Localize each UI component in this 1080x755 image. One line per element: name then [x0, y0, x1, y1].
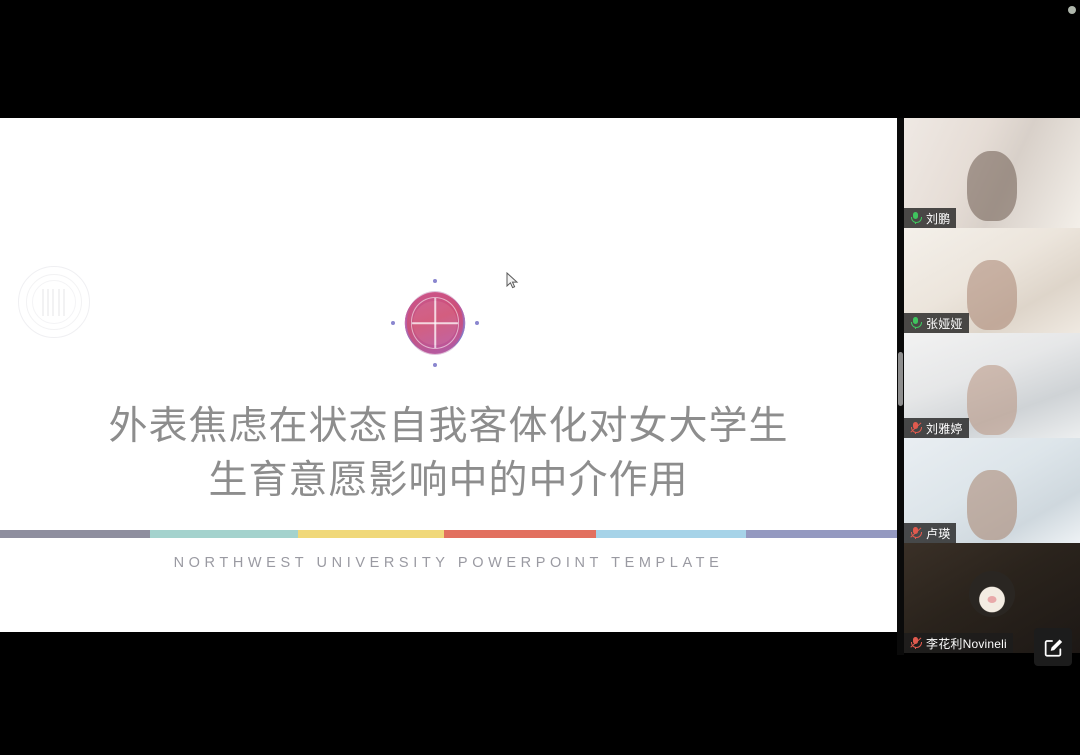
participant-name: 刘雅婷 — [926, 420, 963, 437]
northwest-university-logo-icon — [392, 280, 478, 366]
microphone-muted-icon — [910, 527, 921, 540]
divider-color-bar — [0, 530, 897, 538]
annotate-button[interactable] — [1034, 628, 1072, 666]
segment-blue — [596, 530, 746, 538]
participant-name-bar: 卢瑛 — [904, 523, 956, 543]
participant-name-bar: 刘鹏 — [904, 208, 956, 228]
participant-tile[interactable]: 刘鹏 — [904, 118, 1080, 228]
microphone-on-icon — [910, 317, 921, 330]
screen-root: 外表焦虑在状态自我客体化对女大学生 生育意愿影响中的中介作用 NORTHWEST… — [0, 0, 1080, 755]
segment-gray — [0, 530, 150, 538]
camera-led-dot — [1068, 6, 1076, 14]
mouse-cursor-icon — [506, 272, 520, 290]
participant-video-panel[interactable]: 刘鹏张娅娅刘雅婷卢瑛李花利Novineli — [904, 118, 1080, 655]
microphone-muted-icon — [910, 637, 921, 650]
participant-name: 李花利Novineli — [926, 635, 1007, 652]
segment-red — [444, 530, 596, 538]
slide-subtitle: NORTHWEST UNIVERSITY POWERPOINT TEMPLATE — [0, 555, 897, 571]
participant-tile[interactable]: 刘雅婷 — [904, 333, 1080, 438]
participant-tile[interactable]: 张娅娅 — [904, 228, 1080, 333]
participant-silhouette — [967, 151, 1017, 221]
scrollbar-thumb[interactable] — [898, 352, 903, 406]
participant-silhouette — [967, 260, 1017, 330]
participant-name-bar: 李花利Novineli — [904, 633, 1013, 653]
segment-indigo — [746, 530, 897, 538]
participant-name-bar: 刘雅婷 — [904, 418, 969, 438]
participant-name: 张娅娅 — [926, 315, 963, 332]
participant-silhouette — [967, 365, 1017, 435]
participant-name-bar: 张娅娅 — [904, 313, 969, 333]
segment-teal — [150, 530, 298, 538]
avatar — [969, 571, 1015, 617]
pencil-annotate-icon — [1042, 636, 1064, 658]
university-seal-watermark-icon — [18, 266, 90, 338]
participant-list-scrollbar[interactable] — [897, 118, 904, 655]
segment-yellow — [298, 530, 444, 538]
microphone-muted-icon — [910, 422, 921, 435]
slide-title: 外表焦虑在状态自我客体化对女大学生 生育意愿影响中的中介作用 — [0, 400, 897, 508]
participant-name: 刘鹏 — [926, 210, 950, 227]
microphone-on-icon — [910, 212, 921, 225]
participant-name: 卢瑛 — [926, 525, 950, 542]
participant-silhouette — [967, 470, 1017, 540]
shared-slide[interactable]: 外表焦虑在状态自我客体化对女大学生 生育意愿影响中的中介作用 NORTHWEST… — [0, 118, 897, 632]
participant-tile[interactable]: 卢瑛 — [904, 438, 1080, 543]
